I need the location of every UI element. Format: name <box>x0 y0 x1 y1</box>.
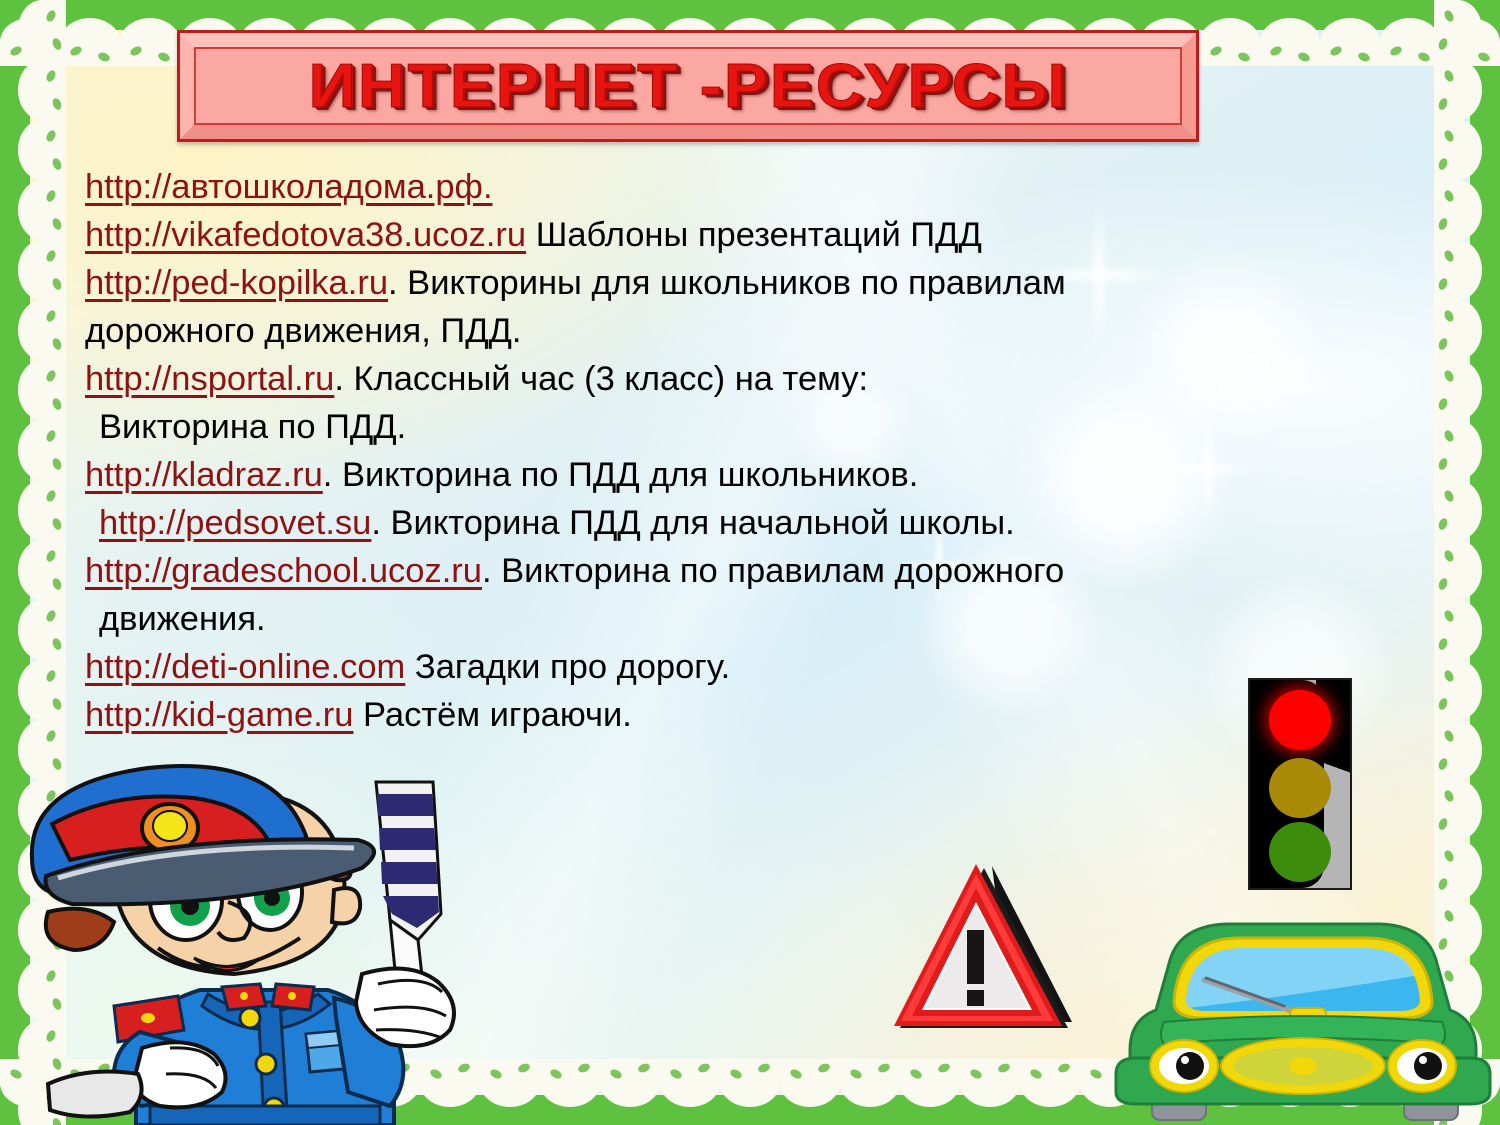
resource-description: . Викторина по правилам дорожного <box>482 552 1064 590</box>
resource-link[interactable]: http://gradeschool.ucoz.ru <box>85 552 482 590</box>
list-item: http://pedsovet.su. Викторина ПДД для на… <box>85 499 1315 547</box>
page-title: ИНТЕРНЕТ -РЕСУРСЫ <box>308 51 1067 122</box>
slide-root: ИНТЕРНЕТ -РЕСУРСЫ http://автошколадома.р… <box>0 0 1500 1125</box>
list-item: http://deti-online.com Загадки про дорог… <box>85 643 1315 691</box>
list-item: http://kid-game.ru Растём играючи. <box>85 691 1315 739</box>
list-item: http://vikafedotova38.ucoz.ru Шаблоны пр… <box>85 211 1315 259</box>
traffic-light-green-lamp <box>1269 822 1331 882</box>
resource-description: Растём играючи. <box>353 696 631 734</box>
resource-description: . Викторина по ПДД для школьников. <box>323 456 919 494</box>
car-headlight-eye-right <box>1388 1040 1456 1092</box>
resource-description: Загадки про дорогу. <box>405 648 730 686</box>
resource-description: . Классный час (3 класс) на тему: <box>334 360 868 398</box>
resource-link[interactable]: http://kladraz.ru <box>85 456 323 494</box>
banner-inner: ИНТЕРНЕТ -РЕСУРСЫ <box>194 47 1182 125</box>
resource-link[interactable]: http://автошколадома.рф. <box>85 168 493 206</box>
resource-link[interactable]: http://ped-kopilka.ru <box>85 264 388 302</box>
traffic-light-icon <box>1248 678 1352 890</box>
list-item: http://gradeschool.ucoz.ru. Викторина по… <box>85 547 1315 595</box>
resource-link[interactable]: http://pedsovet.su <box>99 504 371 542</box>
resource-description: движения. <box>99 600 266 638</box>
list-item: http://nsportal.ru. Классный час (3 клас… <box>85 355 1315 403</box>
list-item: http://ped-kopilka.ru. Викторины для шко… <box>85 259 1315 307</box>
cartoon-car-illustration <box>1108 898 1498 1125</box>
list-item-continuation: Викторина по ПДД. <box>85 403 1315 451</box>
list-item: http://kladraz.ru. Викторина по ПДД для … <box>85 451 1315 499</box>
resource-description: Шаблоны презентаций ПДД <box>526 216 982 254</box>
resource-list: http://автошколадома.рф. http://vikafedo… <box>85 163 1315 739</box>
resource-description: . Викторины для школьников по правилам <box>388 264 1066 302</box>
policeman-left-glove <box>48 1032 226 1117</box>
list-item: http://автошколадома.рф. <box>85 163 1315 211</box>
list-item-continuation: дорожного движения, ПДД. <box>85 307 1315 355</box>
list-item-continuation: движения. <box>85 595 1315 643</box>
policeman-right-glove <box>334 969 454 1106</box>
resource-link[interactable]: http://vikafedotova38.ucoz.ru <box>85 216 526 254</box>
resource-link[interactable]: http://kid-game.ru <box>85 696 353 734</box>
title-banner: ИНТЕРНЕТ -РЕСУРСЫ <box>177 30 1199 142</box>
warning-triangle-icon <box>888 858 1076 1044</box>
traffic-light-red-lamp <box>1269 690 1331 750</box>
car-headlight-eye-left <box>1150 1040 1218 1092</box>
resource-description: Викторина по ПДД. <box>99 408 406 446</box>
resource-description: . Викторина ПДД для начальной школы. <box>371 504 1014 542</box>
resource-link[interactable]: http://nsportal.ru <box>85 360 334 398</box>
traffic-light-yellow-lamp <box>1269 758 1331 818</box>
resource-link[interactable]: http://deti-online.com <box>85 648 405 686</box>
cartoon-policeman-illustration <box>18 762 516 1125</box>
resource-description: дорожного движения, ПДД. <box>85 312 522 350</box>
